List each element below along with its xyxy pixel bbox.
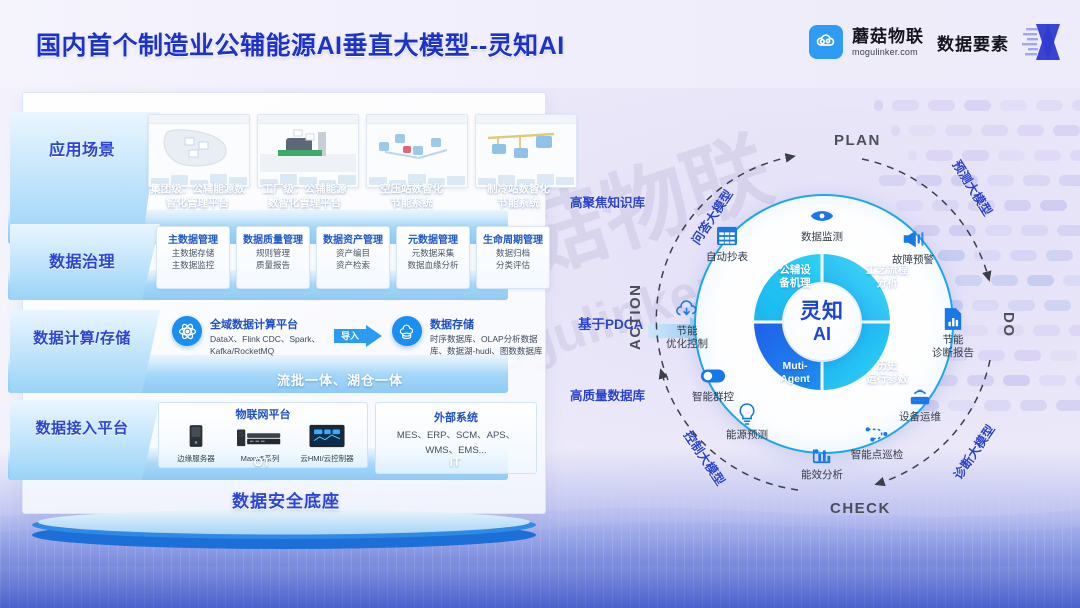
row-label-application: 应用场景 <box>14 136 150 160</box>
hub-line-2: AI <box>813 325 831 343</box>
ot-platform-title: 物联网平台 <box>159 406 367 422</box>
hub-line-1: 灵知 <box>800 301 844 322</box>
base-platform-label: 数据安全底座 <box>6 487 566 512</box>
it-external-desc: MES、ERP、SCM、APS、WMS、EMS... <box>376 428 536 458</box>
card-item: 数据归档 <box>479 248 547 259</box>
quadrant-label-history-params: 历史运行参数 <box>850 360 924 386</box>
governance-card[interactable]: 数据资产管理 资产编目 资产检索 <box>316 226 390 289</box>
mogulinker-logo-icon <box>809 25 843 59</box>
card-title: 元数据管理 <box>399 231 467 246</box>
storage-block[interactable]: 数据存储 时序数据库、OLAP分析数据库、数据湖-hudi、图数数据库 <box>392 316 544 357</box>
row-label-governance: 数据治理 <box>14 248 150 272</box>
brand-lockup: 蘑菇物联 mogulinker.com 数据要素 <box>809 20 1064 64</box>
import-arrow: 导入 <box>334 325 374 345</box>
thumbnail-air-compressor-system[interactable] <box>366 114 468 188</box>
card-item: 元数据采集 <box>399 248 467 259</box>
row-label-wedge <box>10 310 160 393</box>
import-arrow-label: 导入 <box>341 329 359 342</box>
compute-footer-label: 流批一体、湖仓一体 <box>160 370 520 389</box>
x-logo-icon <box>1018 20 1064 64</box>
lightbulb-icon <box>704 402 790 426</box>
card-item: 规则管理 <box>239 248 307 259</box>
compute-platform-text: 全域数据计算平台 DataX、Flink CDC、Spark、Kafka/Roc… <box>210 316 322 357</box>
eye-icon <box>779 204 865 228</box>
atom-icon <box>172 316 202 346</box>
scenario-caption: 制冷站数智化节能系统 <box>465 182 572 210</box>
slide-canvas: 蘑菇物联 mogulinker.com 国内首个制造业公辅能源AI垂直大模型--… <box>0 0 1080 608</box>
pdca-stage-do: DO <box>1000 312 1017 338</box>
card-title: 主数据管理 <box>159 231 227 246</box>
bar-analytics-icon <box>779 442 865 466</box>
quadrant-label-mechanism: 公辅设备机理 <box>758 264 832 290</box>
feature-energy-optimization[interactable]: 节能优化控制 <box>644 298 730 351</box>
governance-card[interactable]: 生命周期管理 数据归档 分类评估 <box>476 226 550 289</box>
feature-label: 智能群控 <box>670 391 756 404</box>
storage-text: 数据存储 时序数据库、OLAP分析数据库、数据湖-hudi、图数数据库 <box>430 316 544 357</box>
pdca-stage-plan: PLAN <box>834 132 881 149</box>
governance-card[interactable]: 数据质量管理 规则管理 质量报告 <box>236 226 310 289</box>
thumbnail-factory-platform[interactable] <box>257 114 359 188</box>
scenario-caption: 工厂级：公辅能源数智化管理平台 <box>251 182 358 210</box>
report-chart-icon <box>910 307 996 331</box>
governance-card[interactable]: 主数据管理 主数据存储 主数据监控 <box>156 226 230 289</box>
quadrant-label-multi-agent: Muti-Agent <box>758 360 832 386</box>
brand-name-en: mogulinker.com <box>852 48 924 57</box>
hmi-panel-icon <box>308 424 346 448</box>
card-item: 资产编目 <box>319 248 387 259</box>
pdca-hub: 灵知 AI <box>784 284 860 360</box>
gateway-icon <box>237 424 283 448</box>
feature-group-control[interactable]: 智能群控 <box>670 364 756 404</box>
card-title: 数据质量管理 <box>239 231 307 246</box>
feature-diagnosis-report[interactable]: 节能诊断报告 <box>910 307 996 360</box>
row-label-wedge <box>10 400 160 480</box>
it-tag: IT <box>375 455 535 469</box>
toggle-icon <box>670 364 756 388</box>
feature-data-monitoring[interactable]: 数据监测 <box>779 204 865 244</box>
feature-label: 能效分析 <box>779 469 865 482</box>
card-title: 生命周期管理 <box>479 231 547 246</box>
scenario-thumbnails <box>148 114 577 188</box>
cloud-database-icon <box>392 316 422 346</box>
page-title: 国内首个制造业公辅能源AI垂直大模型--灵知AI <box>36 26 565 62</box>
scenario-caption: 集团级：公辅能源数智化管理平台 <box>144 182 251 210</box>
feature-efficiency-analysis[interactable]: 能效分析 <box>779 442 865 482</box>
ot-tag: OT <box>158 455 366 469</box>
feature-label: 节能诊断报告 <box>910 334 996 360</box>
storage-title: 数据存储 <box>430 316 544 332</box>
brand-name: 蘑菇物联 mogulinker.com <box>852 28 924 57</box>
card-item: 资产检索 <box>319 260 387 271</box>
feature-label: 自动抄表 <box>684 251 770 264</box>
feature-fault-alarm[interactable]: 故障预警 <box>870 227 956 267</box>
scenario-captions: 集团级：公辅能源数智化管理平台 工厂级：公辅能源数智化管理平台 空压站数智化节能… <box>144 182 572 210</box>
card-item: 分类评估 <box>479 260 547 271</box>
feature-label: 故障预警 <box>870 254 956 267</box>
card-item: 主数据监控 <box>159 260 227 271</box>
feature-label: 节能优化控制 <box>644 325 730 351</box>
pdca-stage-action: ACTION <box>627 284 644 351</box>
cloud-download-icon <box>644 298 730 322</box>
feature-label: 数据监测 <box>779 231 865 244</box>
row-label-access: 数据接入平台 <box>14 417 150 438</box>
pdca-stage-check: CHECK <box>830 500 891 517</box>
feature-energy-forecast[interactable]: 能源预测 <box>704 402 790 442</box>
storage-desc: 时序数据库、OLAP分析数据库、数据湖-hudi、图数数据库 <box>430 334 544 357</box>
governance-card-list: 主数据管理 主数据存储 主数据监控 数据质量管理 规则管理 质量报告 数据资产管… <box>156 226 550 289</box>
compute-platform-desc: DataX、Flink CDC、Spark、Kafka/RocketMQ <box>210 334 322 357</box>
compute-platform-title: 全域数据计算平台 <box>210 316 322 332</box>
edge-server-icon <box>186 424 206 448</box>
governance-card[interactable]: 元数据管理 元数据采集 数据血缘分析 <box>396 226 470 289</box>
card-item: 主数据存储 <box>159 248 227 259</box>
card-item: 质量报告 <box>239 260 307 271</box>
brand-subtitle: 数据要素 <box>937 30 1009 55</box>
feature-equipment-ops[interactable]: 设备运维 <box>877 384 963 424</box>
router-icon <box>877 384 963 408</box>
feature-auto-meter-reading[interactable]: 自动抄表 <box>684 224 770 264</box>
row-label-compute: 数据计算/存储 <box>14 327 150 348</box>
table-grid-icon <box>684 224 770 248</box>
megaphone-icon <box>870 227 956 251</box>
it-external-title: 外部系统 <box>376 409 536 425</box>
pdca-diagram: PLAN DO CHECK ACTION 问答大模型 预测大模型 诊断大模型 控… <box>612 112 1032 532</box>
scenario-caption: 空压站数智化节能系统 <box>358 182 465 210</box>
brand-name-cn: 蘑菇物联 <box>852 28 924 45</box>
card-title: 数据资产管理 <box>319 231 387 246</box>
card-item: 数据血缘分析 <box>399 260 467 271</box>
quadrant-label-process-analysis: 工艺流程分析 <box>850 264 924 290</box>
thumbnail-group-platform[interactable] <box>148 114 250 188</box>
thumbnail-chiller-system[interactable] <box>475 114 577 188</box>
compute-platform-block[interactable]: 全域数据计算平台 DataX、Flink CDC、Spark、Kafka/Roc… <box>172 316 322 357</box>
feature-label: 能源预测 <box>704 429 790 442</box>
